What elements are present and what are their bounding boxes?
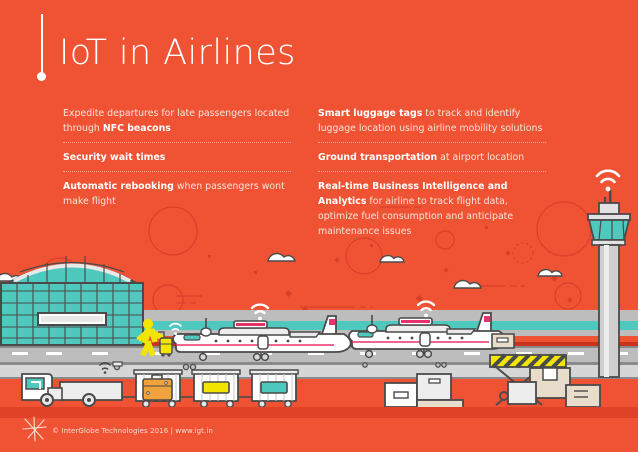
baggage-cart-3: [250, 370, 298, 407]
bullet-text-bold: NFC beacons: [103, 123, 171, 134]
bullet-smart-luggage-tags: Smart luggage tags to track and identify…: [318, 106, 546, 136]
left-text-column: Expedite departures for late passengers …: [63, 106, 291, 209]
cargo-box-6: [508, 382, 536, 404]
divider-1: [63, 142, 291, 143]
page-title: IoT in Airlines: [59, 36, 296, 71]
footer-bar: [0, 418, 638, 452]
bullet-security-wait-times: Security wait times: [63, 150, 291, 165]
cargo-box-2: [417, 374, 451, 400]
bullet-real-time-bi: Real-time Business Intelligence and Anal…: [318, 179, 546, 239]
bullet-automatic-rebooking: Automatic rebooking when passengers wont…: [63, 179, 291, 209]
bullet-text-before: Expedite departures for late passengers …: [63, 108, 289, 134]
bullet-text-bold: Ground transportation: [318, 152, 437, 163]
bullet-ground-transportation: Ground transportation at airport locatio…: [318, 150, 546, 165]
title-accent-line: [41, 14, 43, 76]
slide-root: IoT in Airlines Expedite departures for …: [0, 0, 638, 452]
interglobe-star-logo: [22, 416, 48, 442]
ground-band-dark: [0, 407, 638, 418]
bullet-text-bold: Automatic rebooking: [63, 181, 174, 192]
right-text-column: Smart luggage tags to track and identify…: [318, 106, 546, 239]
divider-2: [63, 171, 291, 172]
footer-copyright: © InterGlobe Technologies 2016 | www.igt…: [52, 427, 213, 435]
cargo-box-5: [566, 385, 600, 407]
divider-3: [318, 142, 546, 143]
divider-4: [318, 171, 546, 172]
title-accent-dot: [37, 72, 46, 81]
bullet-text-bold: Smart luggage tags: [318, 108, 422, 119]
bullet-text-bold: Security wait times: [63, 152, 165, 163]
bullet-expedite-departures: Expedite departures for late passengers …: [63, 106, 291, 136]
bullet-text-after: at airport location: [437, 152, 524, 163]
